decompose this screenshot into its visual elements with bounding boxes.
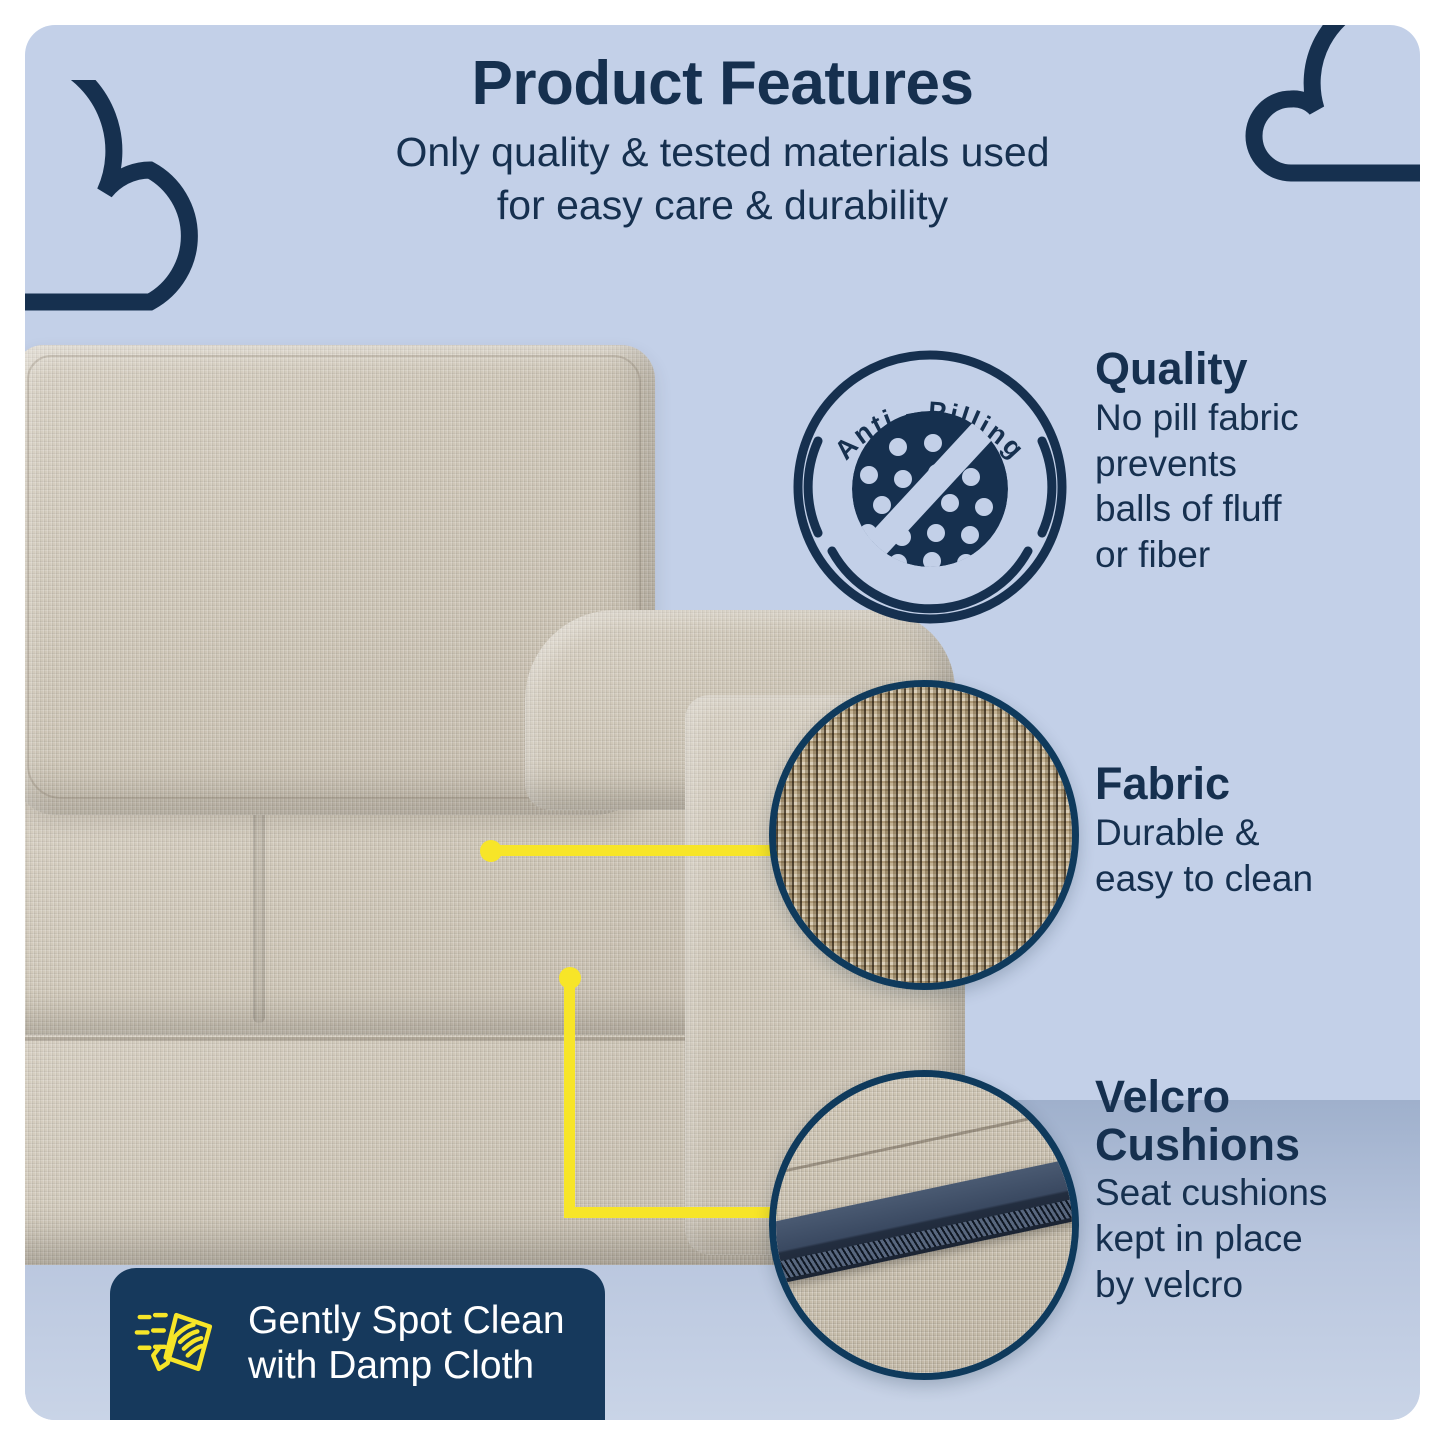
feature-quality: Quality No pill fabric prevents balls of… — [1095, 345, 1420, 578]
care-instruction-text: Gently Spot Clean with Damp Cloth — [248, 1299, 565, 1389]
feature-velcro-body: Seat cushions kept in place by velcro — [1095, 1170, 1420, 1308]
subtitle-line-1: Only quality & tested materials used — [395, 129, 1049, 175]
feature-velcro: Velcro Cushions Seat cushions kept in pl… — [1095, 1073, 1420, 1308]
velcro-body-line-1: Seat cushions — [1095, 1172, 1327, 1213]
fabric-closeup-circle — [769, 680, 1079, 990]
velcro-closeup-circle — [769, 1070, 1079, 1380]
care-line-2: with Damp Cloth — [248, 1344, 534, 1387]
velcro-title-line-1: Velcro — [1095, 1071, 1230, 1122]
connector-fabric-line — [490, 845, 790, 856]
feature-fabric-title: Fabric — [1095, 760, 1420, 808]
anti-pilling-badge: Anti - Pilling — [785, 337, 1075, 627]
subtitle-line-2: for easy care & durability — [497, 182, 948, 228]
feature-velcro-title: Velcro Cushions — [1095, 1073, 1420, 1168]
connector-velcro-vline — [564, 975, 575, 1217]
care-instruction-badge: Gently Spot Clean with Damp Cloth — [110, 1268, 605, 1420]
feature-quality-body: No pill fabric prevents balls of fluff o… — [1095, 395, 1420, 579]
quality-body-line-4: or fiber — [1095, 534, 1210, 575]
feature-quality-title: Quality — [1095, 345, 1420, 393]
page-subtitle: Only quality & tested materials used for… — [25, 126, 1420, 231]
quality-body-line-1: No pill fabric — [1095, 397, 1299, 438]
care-line-1: Gently Spot Clean — [248, 1299, 565, 1342]
feature-fabric-body: Durable & easy to clean — [1095, 810, 1420, 902]
velcro-image — [776, 1077, 1072, 1373]
header: Product Features Only quality & tested m… — [25, 25, 1420, 231]
velcro-title-line-2: Cushions — [1095, 1119, 1300, 1170]
product-features-poster: Product Features Only quality & tested m… — [25, 25, 1420, 1420]
quality-body-line-2: prevents — [1095, 443, 1237, 484]
velcro-body-line-2: kept in place — [1095, 1218, 1303, 1259]
fabric-body-line-1: Durable & — [1095, 812, 1260, 853]
fabric-texture — [776, 687, 1072, 983]
feature-fabric: Fabric Durable & easy to clean — [1095, 760, 1420, 901]
page-title: Product Features — [25, 51, 1420, 116]
hand-wiping-cloth-icon — [134, 1294, 230, 1395]
velcro-body-line-3: by velcro — [1095, 1264, 1243, 1305]
fabric-body-line-2: easy to clean — [1095, 858, 1313, 899]
quality-body-line-3: balls of fluff — [1095, 488, 1281, 529]
